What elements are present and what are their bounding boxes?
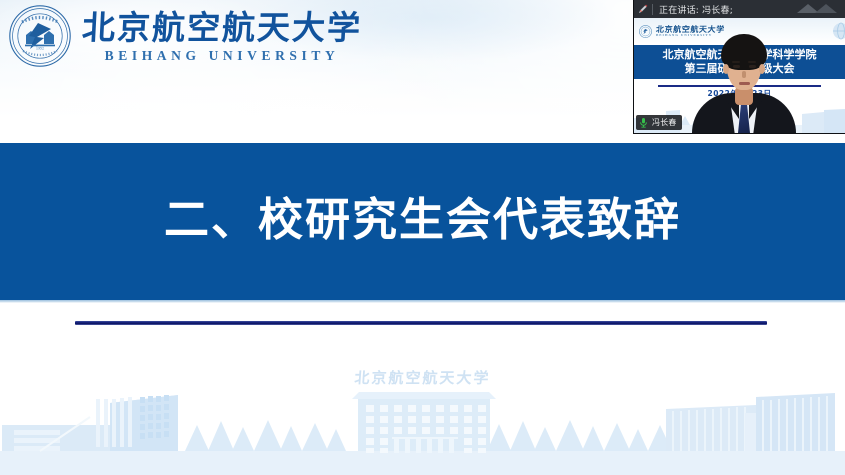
campus-watermark-text: 北京航空航天大学	[0, 367, 845, 388]
campus-silhouette-footer: 北京航空航天大学	[0, 355, 845, 475]
titlebar-divider	[652, 4, 653, 15]
globe-icon	[831, 21, 845, 41]
speaker-brow-left	[732, 61, 740, 63]
title-band-edge	[0, 300, 845, 303]
speaker-nose	[742, 71, 746, 78]
microphone-active-icon[interactable]	[638, 117, 649, 128]
presentation-slide: 1952 北京航空航天大学 BEIHANG UNIVERSITY 二、校研究生会…	[0, 0, 845, 475]
speaker-ear-left	[723, 64, 729, 74]
speaker-eye-left	[733, 65, 740, 68]
speaker-eye-right	[749, 65, 756, 68]
svg-text:1952: 1952	[36, 47, 44, 51]
campus-skyline-graphic	[0, 355, 845, 475]
slide-title: 二、校研究生会代表致辞	[164, 197, 681, 242]
annotate-pen-icon[interactable]	[634, 0, 652, 18]
slide-title-band: 二、校研究生会代表致辞	[0, 143, 845, 300]
buaa-seal-icon	[639, 25, 652, 38]
university-logo-lockup: 1952 北京航空航天大学 BEIHANG UNIVERSITY	[8, 4, 362, 68]
speaker-video-panel[interactable]: 正在讲话: 冯长春; 北京航空	[634, 0, 845, 133]
speaker-name-badge[interactable]: 冯长春	[636, 115, 682, 130]
university-name-cn: 北京航空航天大学	[81, 10, 363, 47]
speaking-status-text: 正在讲话: 冯长春;	[659, 3, 733, 16]
university-name-en: BEIHANG UNIVERSITY	[105, 48, 340, 64]
university-wordmark: 北京航空航天大学 BEIHANG UNIVERSITY	[82, 8, 362, 64]
divider-rule	[75, 321, 767, 325]
video-stage[interactable]: 北京航空航天大学 BEIHANG UNIVERSITY 北京航空航天大学数学科学…	[634, 18, 845, 133]
speaker-ear-right	[759, 64, 765, 74]
buaa-seal-icon: 1952	[8, 4, 72, 68]
video-titlebar[interactable]: 正在讲话: 冯长春;	[634, 0, 845, 19]
speaker-mouth	[739, 82, 750, 85]
speaker-brow-right	[748, 61, 756, 63]
speaker-video-feed	[690, 24, 798, 133]
chevron-collapse-icon[interactable]	[789, 0, 845, 18]
speaker-name: 冯长春	[652, 117, 677, 128]
